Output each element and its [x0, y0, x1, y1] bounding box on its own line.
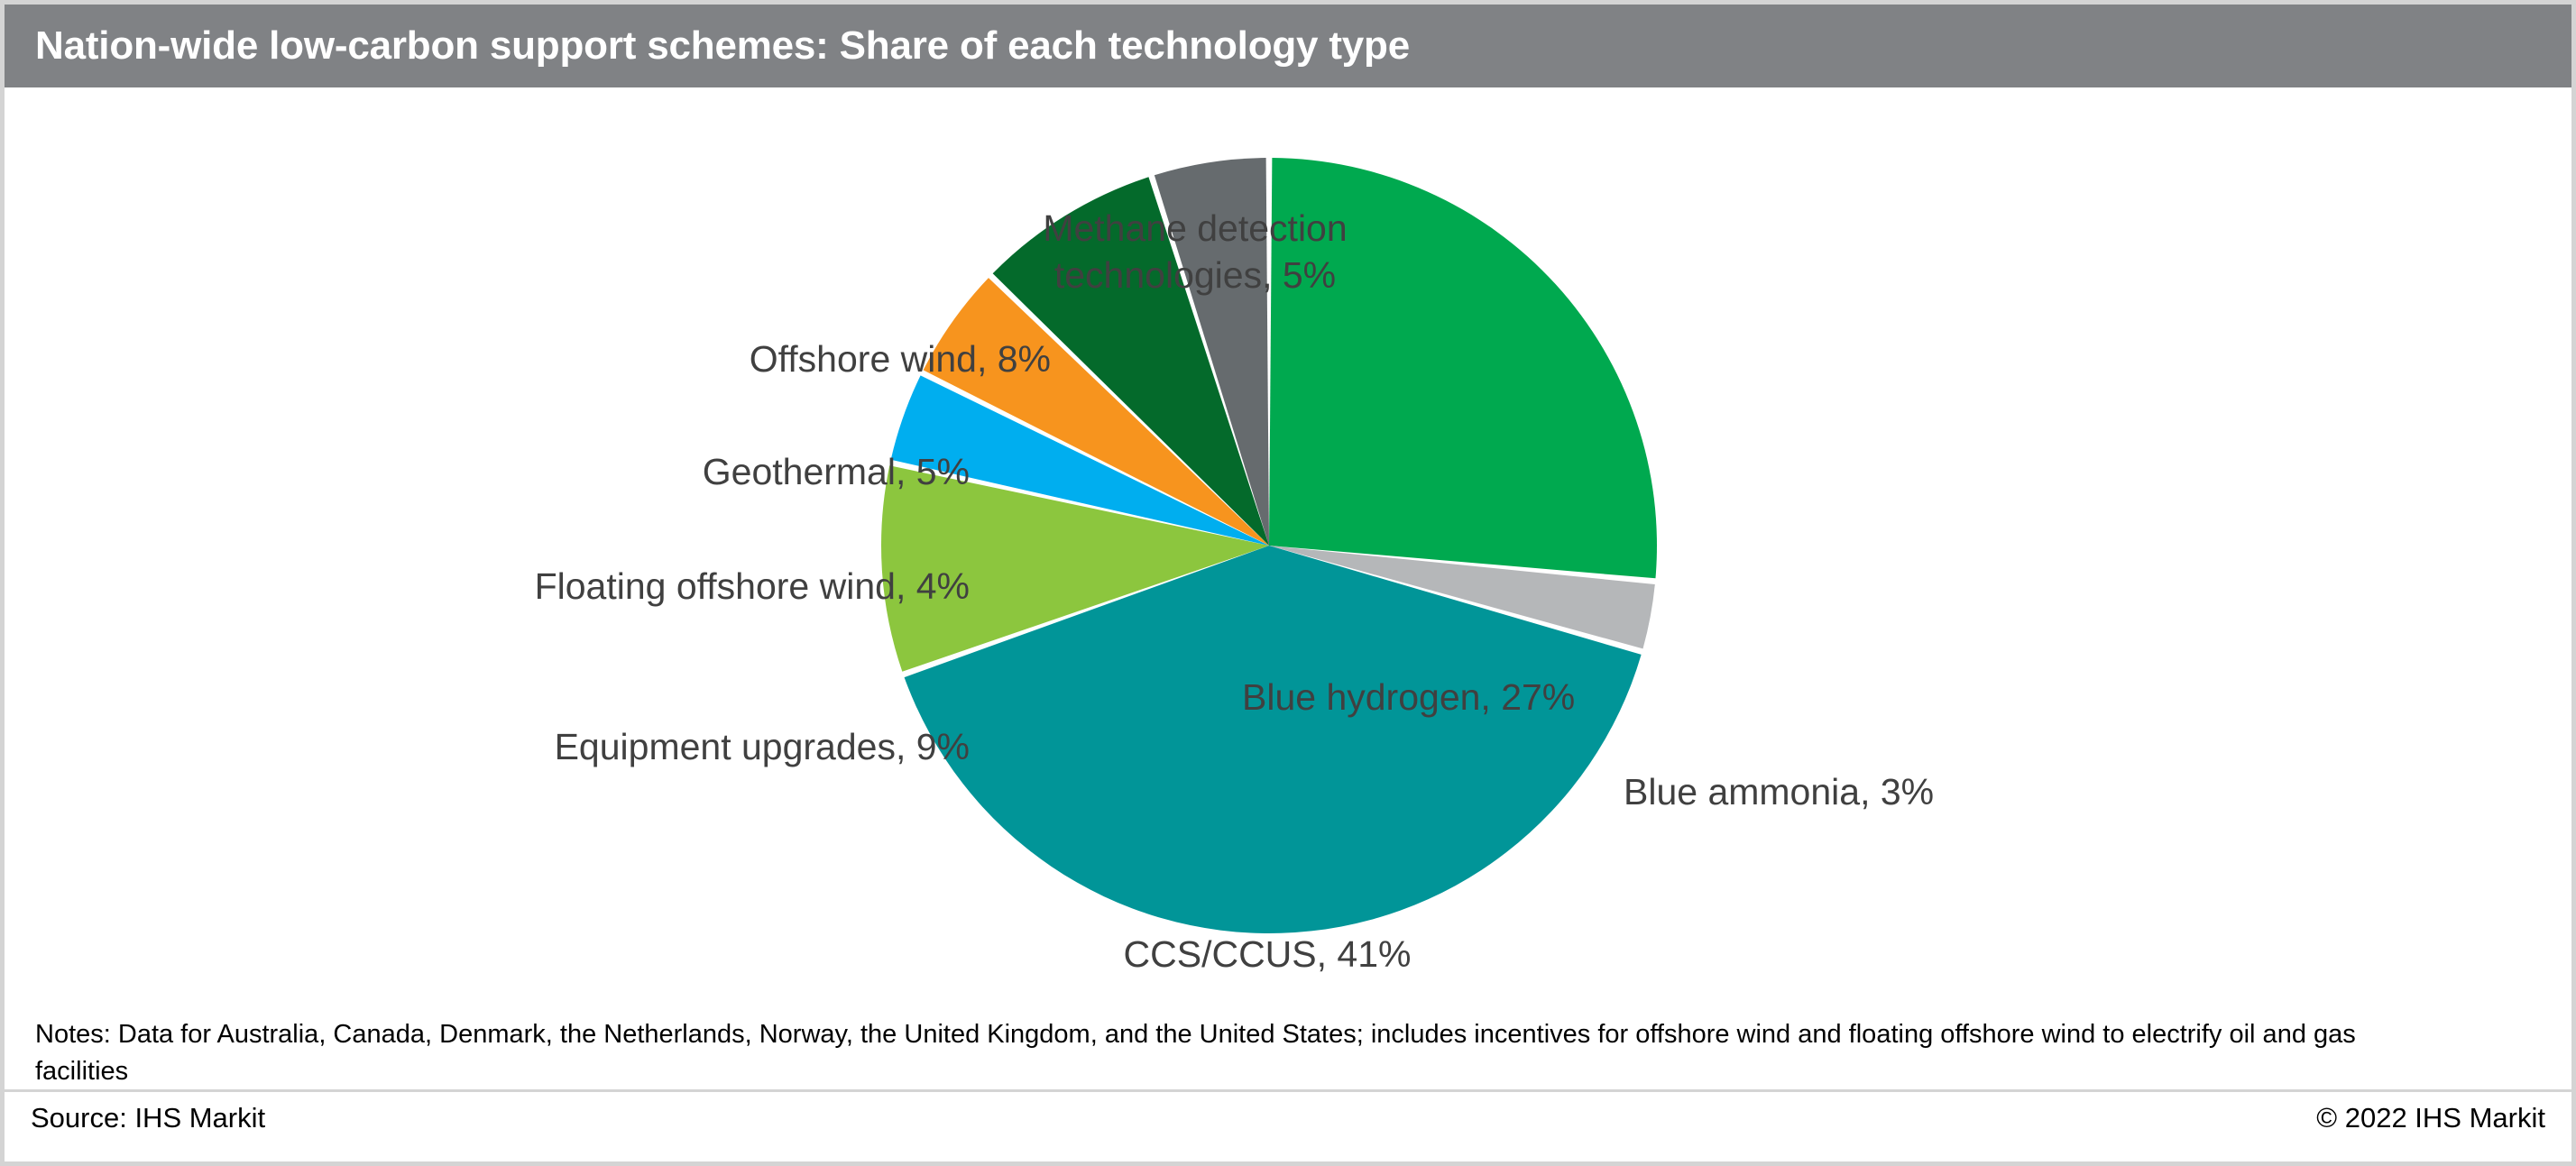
footer-notes: Notes: Data for Australia, Canada, Denma… [35, 1016, 2416, 1090]
pie-chart: Methane detection technologies, 5% Offsh… [5, 87, 2571, 998]
footer-divider [5, 1089, 2571, 1092]
pie-label-methane-detection-line2: technologies, 5% [961, 252, 1430, 298]
pie-label-methane-detection-line1: Methane detection [961, 205, 1430, 252]
plot-area: Methane detection technologies, 5% Offsh… [5, 87, 2571, 998]
pie-label-equipment-upgrades: Equipment upgrades, 9% [167, 723, 970, 770]
pie-label-ccs-ccus: CCS/CCUS, 41% [1024, 931, 1511, 978]
chart-title: Nation-wide low-carbon support schemes: … [5, 23, 1410, 69]
footer-source: Source: IHS Markit [31, 1102, 265, 1134]
pie-label-floating-offshore-wind: Floating offshore wind, 4% [185, 563, 970, 610]
pie-label-blue-hydrogen: Blue hydrogen, 27% [1242, 674, 1873, 721]
pie-label-geothermal: Geothermal, 5% [329, 448, 970, 495]
pie-label-blue-ammonia: Blue ammonia, 3% [1624, 768, 2309, 815]
pie-label-methane-detection: Methane detection technologies, 5% [961, 205, 1430, 298]
footer-copyright: © 2022 IHS Markit [2316, 1102, 2545, 1134]
pie-label-offshore-wind: Offshore wind, 8% [419, 335, 1051, 382]
chart-header-bar: Nation-wide low-carbon support schemes: … [5, 5, 2571, 87]
chart-footer: Notes: Data for Australia, Canada, Denma… [5, 998, 2571, 1161]
chart-page: Nation-wide low-carbon support schemes: … [0, 0, 2576, 1166]
